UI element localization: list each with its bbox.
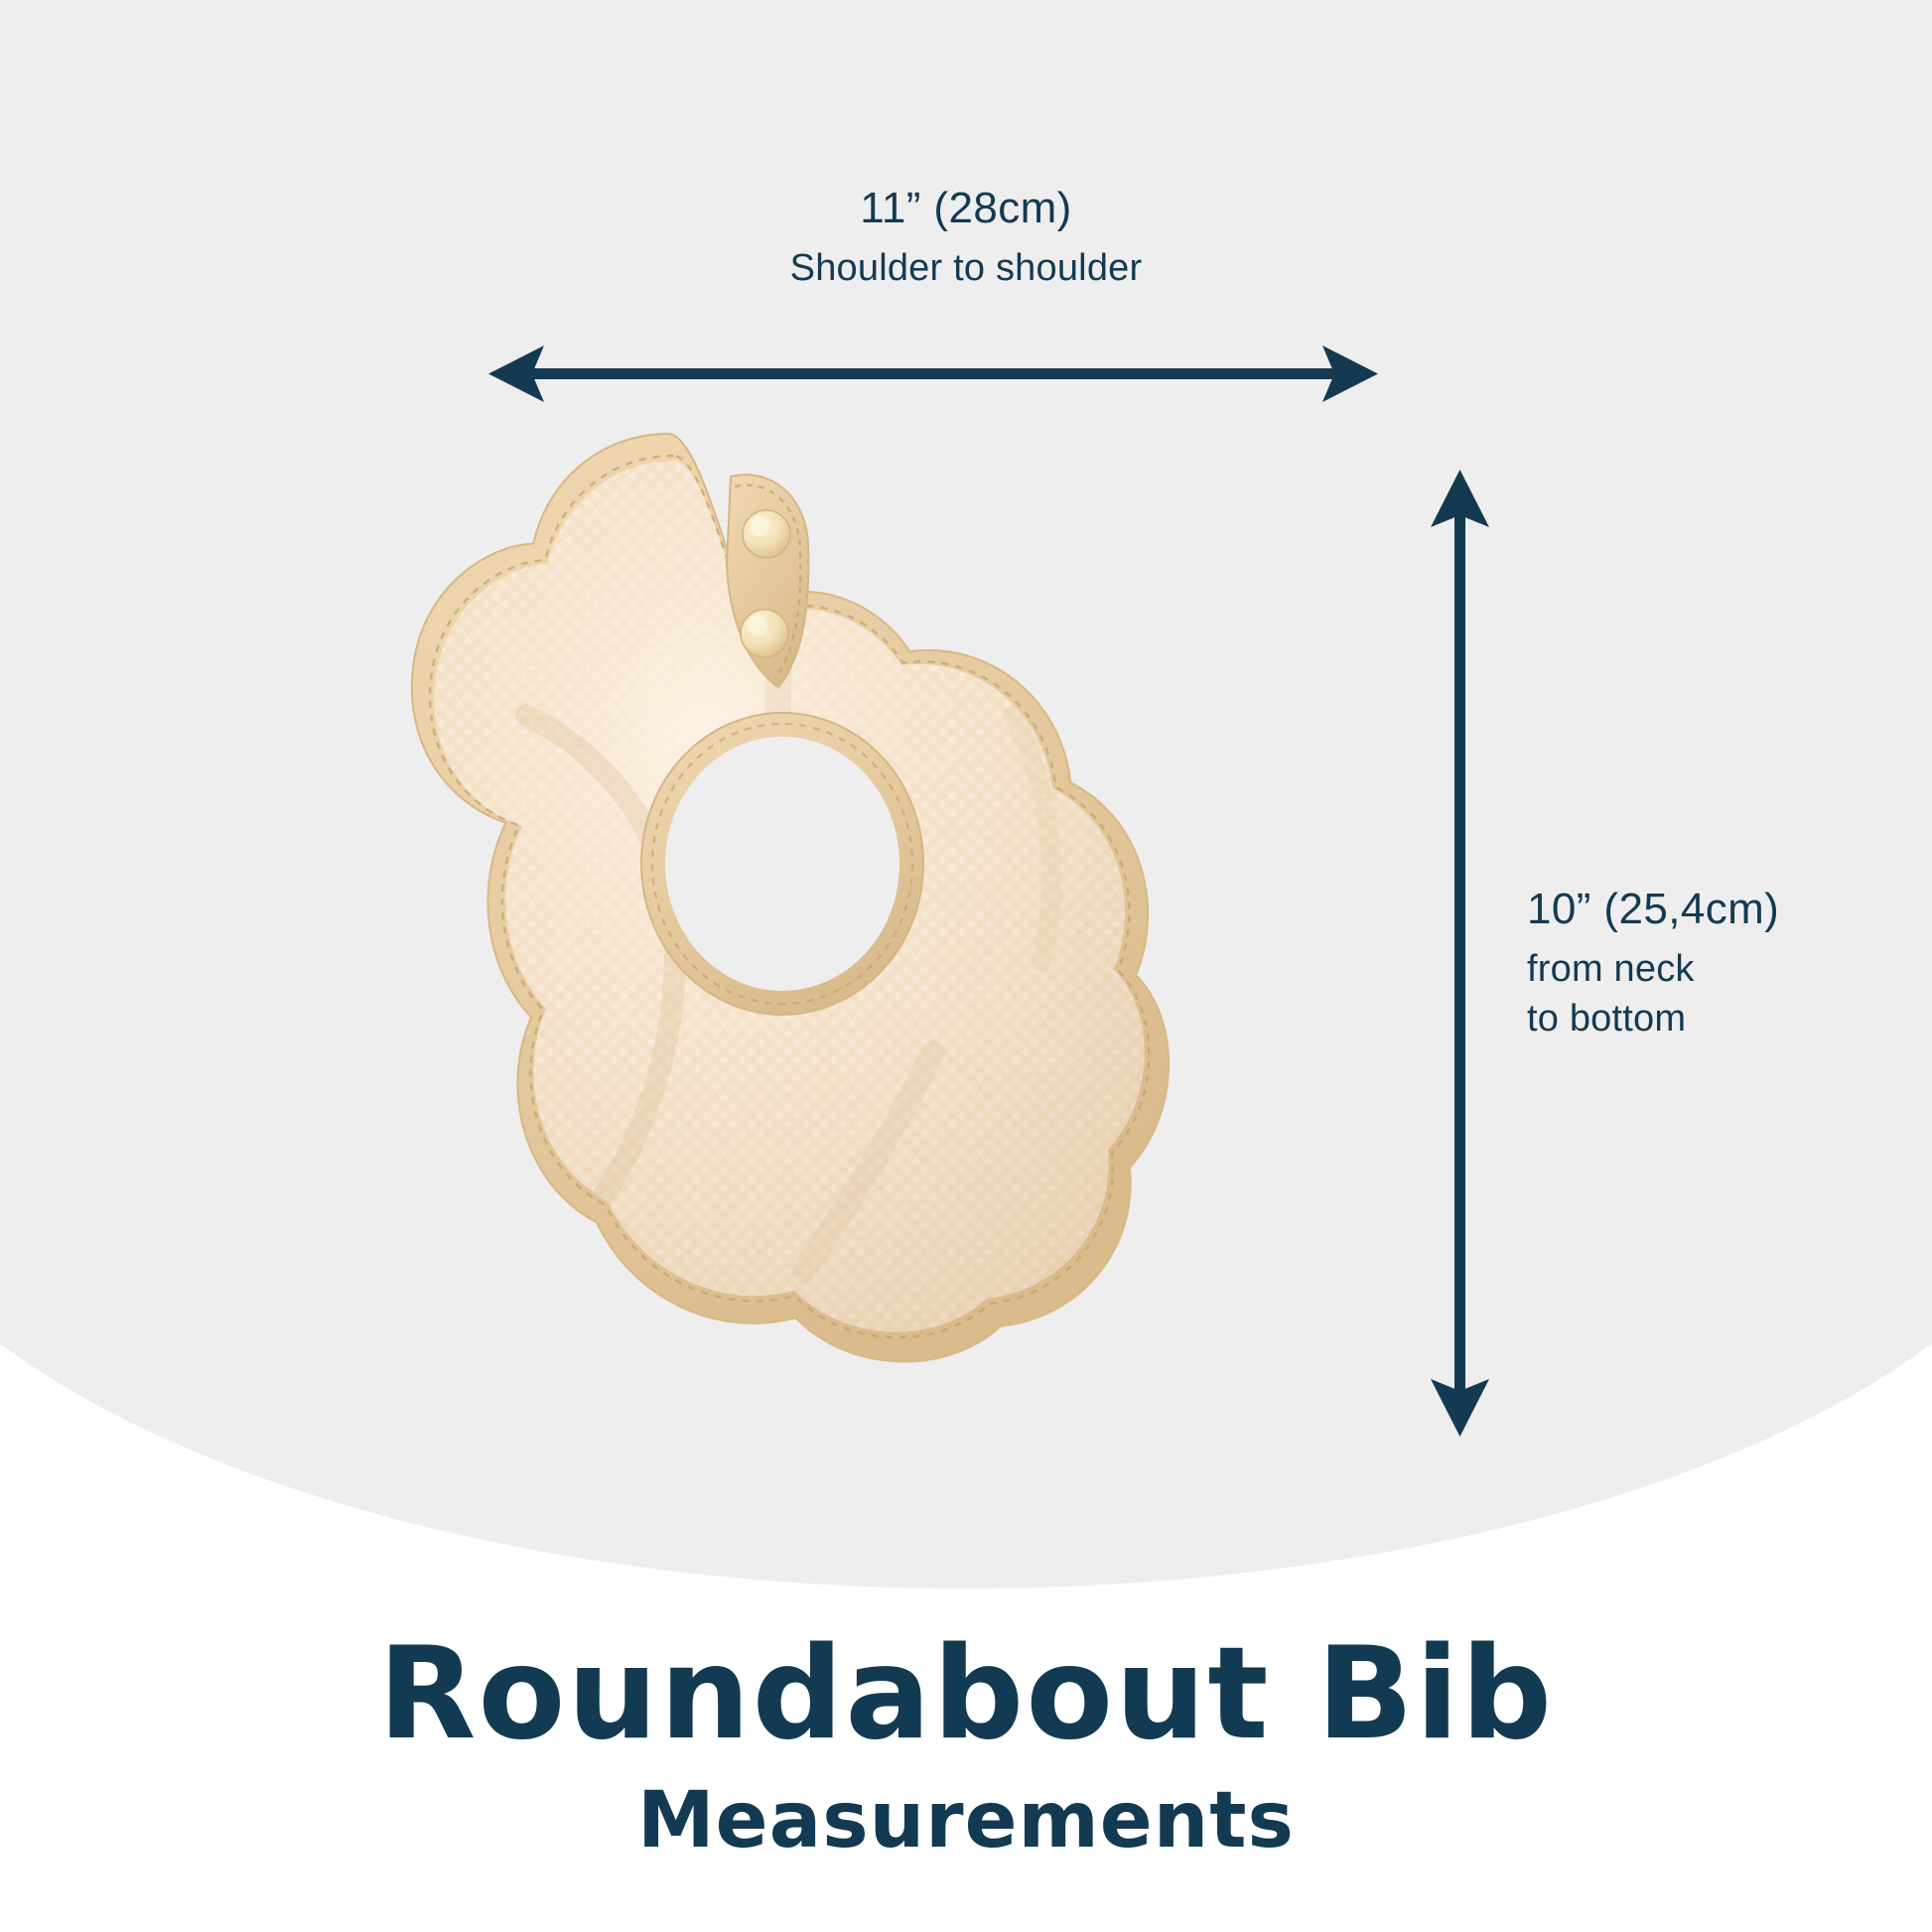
product-subtitle: Measurements xyxy=(0,1779,1932,1864)
height-dimension-label: 10” (25,4cm) from neck to bottom xyxy=(1527,882,1779,1043)
width-dimension-arrow xyxy=(467,338,1400,417)
width-dimension-description: Shoulder to shoulder xyxy=(0,245,1932,293)
height-dimension-description-line1: from neck xyxy=(1527,944,1779,994)
bib-snap-upper xyxy=(743,510,790,558)
bib-illustration xyxy=(377,417,1172,1420)
bib-snap-lower xyxy=(741,610,788,657)
width-dimension-value: 11” (28cm) xyxy=(0,181,1932,235)
height-dimension-description-line2: to bottom xyxy=(1527,994,1779,1043)
height-dimension-value: 10” (25,4cm) xyxy=(1527,882,1779,936)
product-title: Roundabout Bib xyxy=(0,1628,1932,1761)
height-dimension-arrow xyxy=(1410,452,1519,1454)
width-dimension-label: 11” (28cm) Shoulder to shoulder xyxy=(0,181,1932,293)
product-photo xyxy=(377,417,1172,1420)
title-block: Roundabout Bib Measurements xyxy=(0,1628,1932,1864)
bib-neck-opening xyxy=(641,713,923,1015)
measurement-infographic: 11” (28cm) Shoulder to shoulder 10” (25,… xyxy=(0,0,1932,1932)
